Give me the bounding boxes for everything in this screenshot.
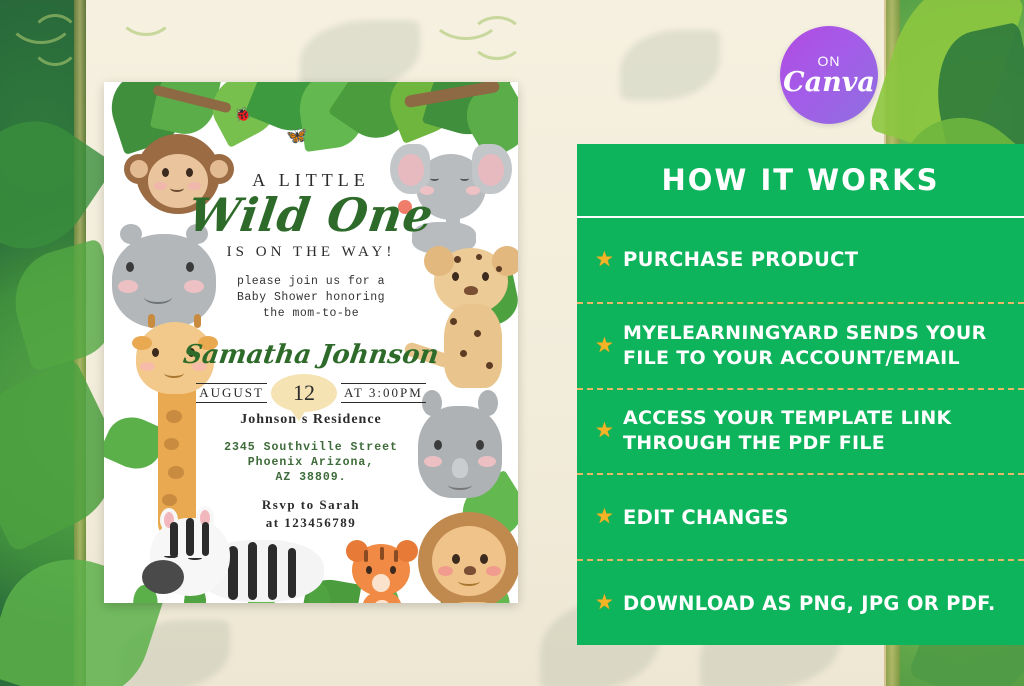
step-label-5: DOWNLOAD AS PNG, JPG OR PDF.: [623, 591, 996, 616]
card-address: 2345 Southville Street Phoenix Arizona, …: [104, 440, 518, 485]
vine-decoration: [470, 16, 524, 60]
step-label-4: EDIT CHANGES: [623, 505, 789, 530]
tiger-illustration: [340, 544, 424, 603]
canva-badge-brand: Canva: [783, 69, 875, 96]
step-label-3: ACCESS YOUR TEMPLATE LINK THROUGH THE PD…: [623, 406, 1010, 456]
step-item-2: ★ MYELEARNINGYARD SENDS YOUR FILE TO YOU…: [577, 304, 1024, 390]
ladybug-icon: 🐞: [234, 106, 251, 123]
vine-decoration: [30, 14, 80, 66]
how-it-works-panel: HOW IT WORKS ★ PURCHASE PRODUCT ★ MYELEA…: [577, 144, 1024, 645]
step-item-4: ★ EDIT CHANGES: [577, 475, 1024, 561]
card-rsvp: Rsvp to Sarah at 123456789: [104, 496, 518, 532]
card-date-month: AUGUST: [196, 383, 267, 403]
card-headline-script: Wild One: [104, 188, 518, 242]
card-date-row: AUGUST 12 AT 3:00PM: [104, 374, 518, 412]
step-item-5: ★ DOWNLOAD AS PNG, JPG OR PDF.: [577, 561, 1024, 645]
card-venue: Johnson's Residence: [104, 412, 518, 428]
card-date-time: AT 3:00PM: [341, 383, 426, 403]
step-item-3: ★ ACCESS YOUR TEMPLATE LINK THROUGH THE …: [577, 390, 1024, 476]
star-icon: ★: [595, 592, 617, 614]
canva-badge-prefix: ON: [818, 54, 841, 68]
step-label-1: PURCHASE PRODUCT: [623, 247, 858, 272]
panel-title: HOW IT WORKS: [577, 144, 1024, 218]
card-invite-lines: please join us for a Baby Shower honorin…: [104, 274, 518, 322]
star-icon: ★: [595, 335, 617, 357]
screenshot-root: 🦋 🐞: [0, 0, 1024, 686]
step-label-2: MYELEARNINGYARD SENDS YOUR FILE TO YOUR …: [623, 321, 1010, 371]
butterfly-icon: 🦋: [286, 126, 307, 146]
canva-badge-icon[interactable]: ON Canva: [780, 26, 878, 124]
star-icon: ★: [595, 249, 617, 271]
invitation-card[interactable]: 🦋 🐞: [104, 82, 518, 603]
star-icon: ★: [595, 506, 617, 528]
step-item-1: ★ PURCHASE PRODUCT: [577, 218, 1024, 304]
star-icon: ★: [595, 420, 617, 442]
card-honoree-name: Samatha Johnson: [104, 340, 518, 370]
card-subheadline: IS ON THE WAY!: [104, 244, 518, 261]
card-date-day-bubble: 12: [271, 374, 337, 412]
